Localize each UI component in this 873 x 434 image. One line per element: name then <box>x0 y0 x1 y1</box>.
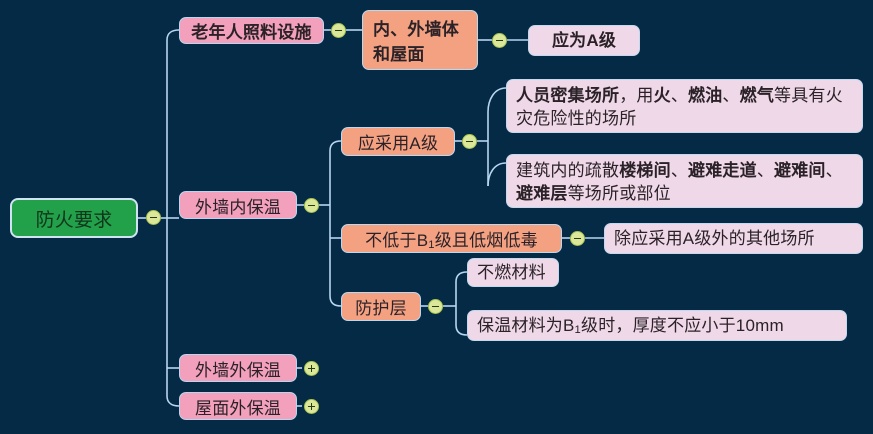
node-elderly-care-facility-label: 老年人照料设施 <box>180 18 323 43</box>
node-crowded-places[interactable]: 人员密集场所，用火、燃油、燃气等具有火灾危险性的场所 <box>506 79 863 133</box>
collapse-icon-not-lower-than-b1[interactable] <box>570 231 585 246</box>
node-should-be-grade-a-label: 应为A级 <box>538 29 630 52</box>
minus-bar <box>496 40 503 42</box>
node-noncombustible-material[interactable]: 不燃材料 <box>467 258 559 287</box>
plus-bar-vertical <box>311 403 313 410</box>
plus-bar-vertical <box>311 365 313 372</box>
minus-bar <box>574 238 581 240</box>
collapse-icon-root[interactable] <box>146 210 161 225</box>
node-b1-thickness-requirement[interactable]: 保温材料为B1级时，厚度不应小于10mm <box>467 310 847 341</box>
node-evacuation-areas-label: 建筑内的疏散楼梯间、避难走道、避难间、避难层等场所或部位 <box>516 159 853 206</box>
collapse-icon-elderly-care-facility[interactable] <box>331 23 346 38</box>
node-root[interactable]: 防火要求 <box>10 198 138 238</box>
collapse-icon-internal-wall-insulation[interactable] <box>304 198 319 213</box>
node-roof-external-insulation[interactable]: 屋面外保温 <box>179 392 297 420</box>
node-roof-external-insulation-label: 屋面外保温 <box>180 394 296 419</box>
minus-bar <box>432 306 439 308</box>
node-other-places[interactable]: 除应采用A级外的其他场所 <box>604 223 863 254</box>
node-protective-layer-label: 防护层 <box>342 294 420 319</box>
minus-bar <box>308 205 315 207</box>
minus-bar <box>466 141 473 143</box>
node-elderly-care-facility[interactable]: 老年人照料设施 <box>179 17 324 44</box>
node-b1-thickness-requirement-label: 保温材料为B1级时，厚度不应小于10mm <box>477 314 837 337</box>
minus-bar <box>150 217 157 219</box>
node-not-lower-than-b1-label: 不低于B1级且低烟低毒 <box>342 226 561 251</box>
node-noncombustible-material-label: 不燃材料 <box>477 261 549 284</box>
node-shall-use-grade-a-label: 应采用A级 <box>342 129 454 154</box>
node-internal-wall-insulation[interactable]: 外墙内保温 <box>179 191 297 219</box>
mindmap-canvas: 防火要求 老年人照料设施 内、外墙体和屋面 应为A级 外墙内保温 应采用A级 人… <box>0 0 873 434</box>
collapse-icon-protective-layer[interactable] <box>428 299 443 314</box>
node-internal-wall-insulation-label: 外墙内保温 <box>180 193 296 218</box>
minus-bar <box>335 30 342 32</box>
node-external-wall-insulation[interactable]: 外墙外保温 <box>179 354 297 382</box>
node-shall-use-grade-a[interactable]: 应采用A级 <box>341 127 455 156</box>
node-not-lower-than-b1[interactable]: 不低于B1级且低烟低毒 <box>341 224 562 253</box>
node-walls-and-roof-label: 内、外墙体和屋面 <box>373 15 467 65</box>
collapse-icon-shall-use-grade-a[interactable] <box>462 134 477 149</box>
expand-icon-external-wall-insulation[interactable] <box>304 361 319 376</box>
node-other-places-label: 除应采用A级外的其他场所 <box>614 227 853 250</box>
node-should-be-grade-a[interactable]: 应为A级 <box>528 25 640 56</box>
node-evacuation-areas[interactable]: 建筑内的疏散楼梯间、避难走道、避难间、避难层等场所或部位 <box>506 154 863 208</box>
node-root-label: 防火要求 <box>12 205 136 232</box>
node-protective-layer[interactable]: 防护层 <box>341 292 421 321</box>
node-walls-and-roof[interactable]: 内、外墙体和屋面 <box>362 10 478 70</box>
node-external-wall-insulation-label: 外墙外保温 <box>180 356 296 381</box>
node-crowded-places-label: 人员密集场所，用火、燃油、燃气等具有火灾危险性的场所 <box>516 84 853 131</box>
expand-icon-roof-external-insulation[interactable] <box>304 399 319 414</box>
collapse-icon-walls-and-roof[interactable] <box>492 33 507 48</box>
